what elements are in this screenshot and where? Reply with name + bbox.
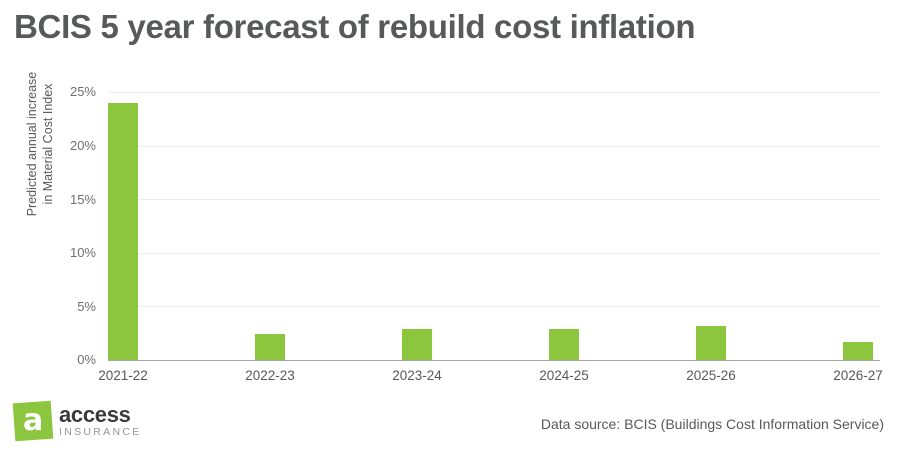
x-tick-label-2023-24: 2023-24 — [357, 368, 477, 384]
gridline-20 — [108, 146, 880, 147]
gridline-25 — [108, 92, 880, 93]
footer: a access INSURANCE Data source: BCIS (Bu… — [0, 398, 900, 460]
x-tick-label-2024-25: 2024-25 — [504, 368, 624, 384]
bar-2022-23[interactable] — [255, 334, 285, 360]
x-tick-label-2026-27: 2026-27 — [798, 368, 900, 384]
y-axis-title-line-2: in Material Cost Index — [40, 19, 56, 269]
bar-2026-27[interactable] — [843, 342, 873, 360]
logo-text: access INSURANCE — [59, 404, 142, 438]
chart-page: BCIS 5 year forecast of rebuild cost inf… — [0, 0, 900, 460]
bar-2025-26[interactable] — [696, 326, 726, 360]
access-insurance-logo: a access INSURANCE — [14, 402, 142, 440]
data-source-note: Data source: BCIS (Buildings Cost Inform… — [541, 416, 884, 432]
logo-mark-icon: a — [13, 401, 54, 442]
x-tick-label-2025-26: 2025-26 — [651, 368, 771, 384]
x-tick-label-2022-23: 2022-23 — [210, 368, 330, 384]
gridline-15 — [108, 199, 880, 200]
y-tick-label-5: 5% — [36, 300, 96, 313]
plot-area — [108, 92, 880, 360]
y-tick-label-0: 0% — [36, 353, 96, 366]
page-title: BCIS 5 year forecast of rebuild cost inf… — [14, 8, 695, 46]
x-tick-label-2021-22: 2021-22 — [63, 368, 183, 384]
logo-mark-letter: a — [23, 406, 43, 436]
bar-2023-24[interactable] — [402, 329, 432, 360]
x-axis-line — [108, 360, 880, 361]
y-axis-title-line-1: Predicted annual increase — [24, 19, 40, 269]
logo-wordmark: access — [59, 404, 142, 425]
gridline-5 — [108, 306, 880, 307]
gridline-10 — [108, 253, 880, 254]
y-axis-title: Predicted annual increase in Material Co… — [24, 19, 56, 269]
bar-2021-22[interactable] — [108, 103, 138, 360]
bar-2024-25[interactable] — [549, 329, 579, 360]
logo-subtitle: INSURANCE — [59, 426, 142, 438]
